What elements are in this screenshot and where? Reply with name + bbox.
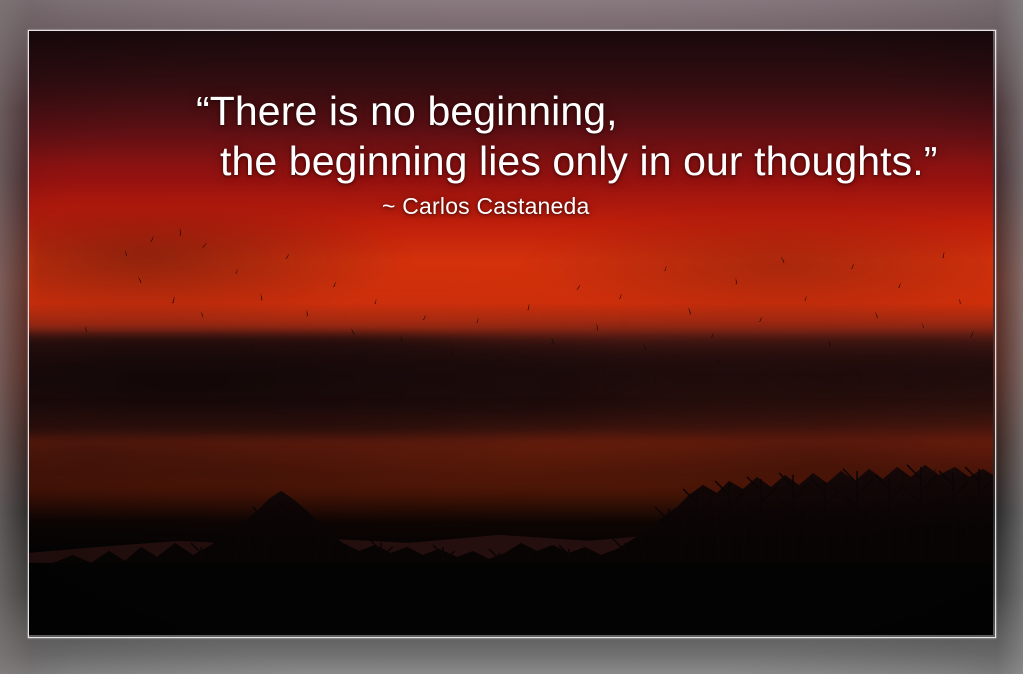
bird-silhouette: ⱼ	[476, 316, 480, 325]
bird-silhouette: ⱼ	[827, 335, 832, 347]
bird-silhouette: ⱼ	[970, 327, 976, 338]
bird-silhouette: ⱼ	[285, 252, 291, 262]
bird-silhouette: ⱼ	[124, 248, 129, 258]
bird-silhouette: ⱼ	[422, 312, 428, 322]
bird-silhouette: ⱼ	[450, 345, 454, 356]
bird-silhouette: ⱼ	[850, 261, 855, 271]
bird-silhouette: ⱼ	[897, 280, 901, 290]
quote-line-2: the beginning lies only in our thoughts.…	[220, 136, 1023, 186]
bird-silhouette: ⱼ	[804, 294, 807, 303]
bird-silhouette: ⱼ	[618, 291, 623, 301]
bird-silhouette: ⱼ	[348, 324, 355, 336]
bird-silhouette: ⱼ	[595, 320, 599, 331]
bird-silhouette: ⱼ	[734, 274, 737, 285]
bird-silhouette: ⱼ	[202, 240, 209, 249]
bird-silhouette: ⱼ	[920, 321, 925, 330]
bird-silhouette: ⱼ	[958, 295, 962, 305]
quote-attribution: ~ Carlos Castaneda	[382, 192, 1023, 220]
bird-silhouette: ⱼ	[171, 292, 176, 304]
bird-silhouette: ⱼ	[305, 306, 308, 317]
bird-silhouette: ⱼ	[575, 282, 582, 292]
bird-silhouette: ⱼ	[179, 224, 183, 236]
quote-line-1: “There is no beginning,	[196, 86, 1023, 136]
bird-silhouette: ⱼ	[259, 289, 264, 300]
bird-silhouette: ⱼ	[399, 332, 404, 343]
tree-silhouette-line	[29, 357, 993, 635]
bird-silhouette: ⱼ	[135, 273, 142, 283]
quote-image-canvas: ⱼⱼⱼⱼⱼⱼⱼⱼⱼⱼⱼⱼⱼⱼⱼⱼⱼⱼⱼⱼⱼⱼⱼⱼⱼⱼⱼⱼⱼⱼⱼⱼⱼⱼⱼⱼⱼⱼⱼⱼ…	[0, 0, 1023, 674]
bird-silhouette: ⱼ	[374, 297, 377, 306]
bird-silhouette: ⱼ	[942, 248, 946, 259]
bird-silhouette: ⱼ	[235, 267, 239, 276]
bird-silhouette: ⱼ	[107, 346, 112, 355]
bird-silhouette: ⱼ	[778, 254, 785, 264]
bird-silhouette: ⱼ	[332, 279, 337, 289]
bird-silhouette: ⱼ	[83, 324, 88, 334]
bird-silhouette: ⱼ	[710, 330, 716, 340]
bird-silhouette: ⱼ	[874, 308, 880, 319]
bird-silhouette: ⱼ	[758, 314, 763, 324]
bird-silhouette: ⱼ	[199, 309, 204, 319]
bird-silhouette: ⱼ	[249, 342, 254, 351]
bird-silhouette: ⱼ	[528, 300, 531, 311]
bird-silhouette: ⱼ	[549, 333, 555, 345]
quote-overlay: “There is no beginning, the beginning li…	[0, 86, 1023, 220]
bird-silhouette: ⱼ	[150, 232, 156, 243]
bird-silhouette: ⱼ	[687, 303, 693, 315]
bird-silhouette: ⱼ	[641, 340, 647, 351]
bird-silhouette: ⱼ	[664, 263, 668, 272]
